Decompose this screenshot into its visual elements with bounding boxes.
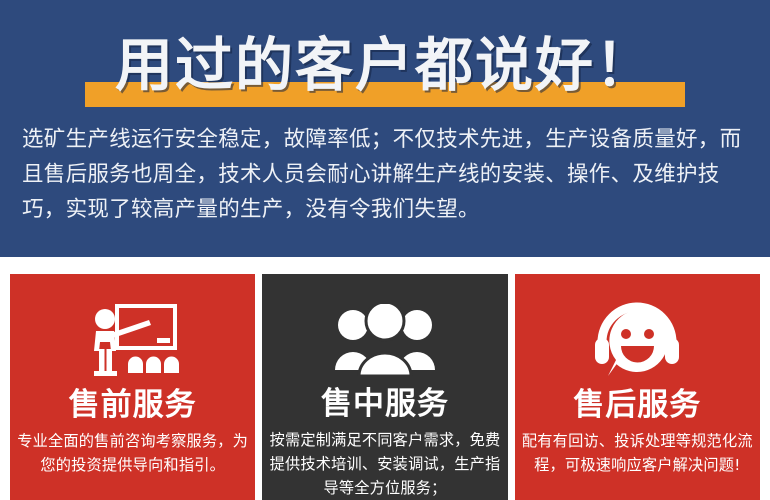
- headset-smiley-icon: [594, 302, 680, 380]
- presenter-whiteboard-icon: [87, 302, 179, 380]
- page-title: 用过的客户都说好！: [0, 26, 770, 104]
- service-cards-row: 售前服务 专业全面的售前咨询考察服务，为您的投资提供导向和指引。 售中服务: [0, 274, 770, 500]
- hero-body-text: 选矿生产线运行安全稳定，故障率低；不仅技术先进，生产设备质量好，而且售后服务也周…: [22, 122, 748, 227]
- service-card-description: 按需定制满足不同客户需求，免费提供技术培训、安装调试，生产指导等全方位服务；: [262, 428, 507, 500]
- hero-section: 用过的客户都说好！ 选矿生产线运行安全稳定，故障率低；不仅技术先进，生产设备质量…: [0, 0, 770, 257]
- service-card-description: 配有有回访、投诉处理等规范化流程，可极速响应客户解决问题!: [515, 429, 760, 477]
- service-card-pre-sales[interactable]: 售前服务 专业全面的售前咨询考察服务，为您的投资提供导向和指引。: [10, 274, 255, 500]
- service-card-title: 售后服务: [573, 386, 701, 424]
- service-card-during-sales[interactable]: 售中服务 按需定制满足不同客户需求，免费提供技术培训、安装调试，生产指导等全方位…: [262, 274, 507, 500]
- service-card-title: 售中服务: [321, 385, 449, 423]
- service-card-after-sales[interactable]: 售后服务 配有有回访、投诉处理等规范化流程，可极速响应客户解决问题!: [515, 274, 760, 500]
- service-card-title: 售前服务: [69, 386, 197, 424]
- people-group-icon: [333, 302, 437, 379]
- service-card-description: 专业全面的售前咨询考察服务，为您的投资提供导向和指引。: [10, 429, 255, 477]
- hero-title-block: 用过的客户都说好！: [0, 26, 770, 112]
- marketing-banner-page: 用过的客户都说好！ 选矿生产线运行安全稳定，故障率低；不仅技术先进，生产设备质量…: [0, 0, 770, 500]
